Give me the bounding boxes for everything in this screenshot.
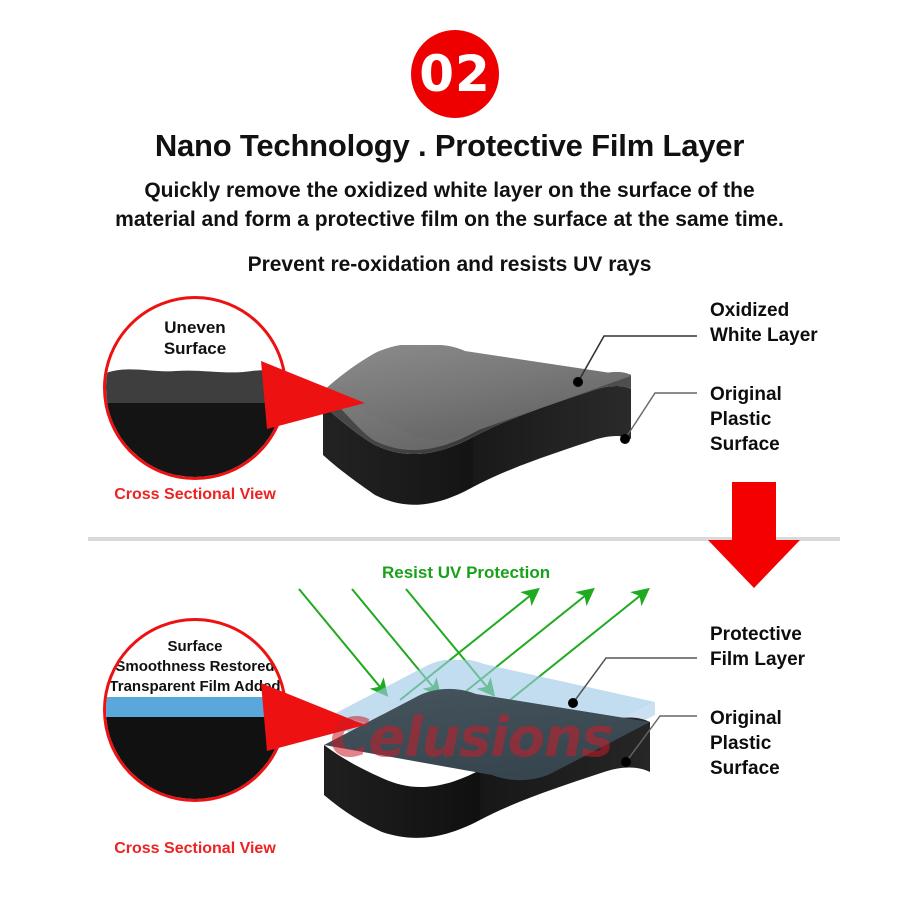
label-oxidized-white-layer: Oxidized White Layer bbox=[710, 298, 818, 348]
top-circle-pointer-icon bbox=[253, 351, 373, 461]
top-circle-label-line-1: Uneven bbox=[106, 317, 284, 338]
page-title: Nano Technology . Protective Film Layer bbox=[0, 128, 899, 164]
label-oxidized-line-1: Oxidized bbox=[710, 298, 818, 323]
subtitle-line-2: material and form a protective film on t… bbox=[55, 205, 844, 234]
bottom-circle-caption: Cross Sectional View bbox=[80, 840, 310, 858]
label-film-line-2: Film Layer bbox=[710, 647, 805, 672]
bottom-circle-label-line-1: Surface bbox=[106, 637, 284, 657]
label-original-plastic-surface-bottom: Original Plastic Surface bbox=[710, 706, 782, 781]
down-arrow-icon bbox=[706, 482, 802, 590]
label-film-line-1: Protective bbox=[710, 622, 805, 647]
uv-protection-label: Resist UV Protection bbox=[382, 563, 550, 583]
subtitle-line-3: Prevent re-oxidation and resists UV rays bbox=[55, 253, 844, 277]
label-plastic-bottom-line-1: Original bbox=[710, 706, 782, 731]
label-plastic-bottom-line-3: Surface bbox=[710, 756, 782, 781]
label-plastic-top-line-2: Plastic bbox=[710, 407, 782, 432]
label-original-plastic-surface-top: Original Plastic Surface bbox=[710, 382, 782, 457]
label-plastic-top-line-3: Surface bbox=[710, 432, 782, 457]
label-protective-film-layer: Protective Film Layer bbox=[710, 622, 805, 672]
label-plastic-bottom-line-2: Plastic bbox=[710, 731, 782, 756]
label-oxidized-line-2: White Layer bbox=[710, 323, 818, 348]
step-number-badge: 02 bbox=[411, 30, 499, 118]
subtitle-line-1: Quickly remove the oxidized white layer … bbox=[55, 176, 844, 205]
infographic-canvas: 02 Nano Technology . Protective Film Lay… bbox=[0, 0, 899, 899]
top-circle-caption: Cross Sectional View bbox=[80, 486, 310, 504]
label-plastic-top-line-1: Original bbox=[710, 382, 782, 407]
subtitle-block: Quickly remove the oxidized white layer … bbox=[55, 176, 844, 234]
brand-watermark: Celusions bbox=[330, 706, 613, 769]
